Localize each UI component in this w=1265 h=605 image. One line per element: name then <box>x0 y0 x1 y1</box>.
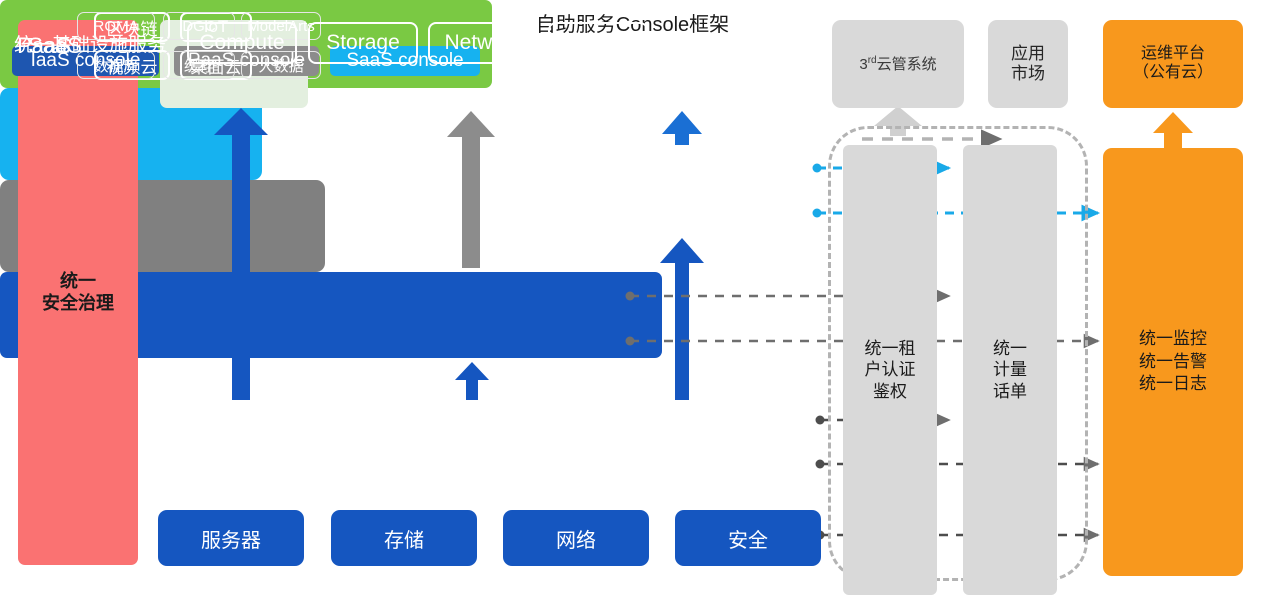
thirdparty-suffix: 云管系统 <box>877 56 937 73</box>
resource-box-network[interactable]: 网络 <box>503 510 649 566</box>
infrastructure-services-label: 统一基础设施服务 <box>14 0 166 86</box>
monitoring-label: 统一监控 统一告警 统一日志 <box>1139 328 1207 397</box>
arrow-infra-to-saas <box>660 238 704 400</box>
shared-service-unified-auth[interactable]: 统一租户认证鉴权 <box>843 145 937 595</box>
security-governance-label: 统一 安全治理 <box>42 271 114 313</box>
monitoring-panel[interactable]: 统一监控 统一告警 统一日志 <box>1103 148 1243 576</box>
security-label-line2: 安全治理 <box>42 293 114 313</box>
app-market-line1: 应用 <box>1011 44 1045 63</box>
shared-service-unified-billing[interactable]: 统一计量话单 <box>963 145 1057 595</box>
security-label-line1: 统一 <box>60 271 96 291</box>
architecture-diagram: 统一 安全治理 API网关 自助服务Console框架 IaaS console… <box>0 0 1265 605</box>
arrow-paas-to-console <box>447 111 495 268</box>
ops-platform-line1: 运维平台 <box>1141 45 1205 62</box>
resource-box-server[interactable]: 服务器 <box>158 510 304 566</box>
monitoring-line2: 统一告警 <box>1139 352 1207 371</box>
thirdparty-cloud-label: 3rd云管系统 <box>859 55 936 74</box>
app-market-box[interactable]: 应用 市场 <box>988 20 1068 108</box>
arrow-infra-to-paas <box>455 362 489 400</box>
infra-chip-compute[interactable]: Compute <box>187 22 297 64</box>
infra-chip-storage[interactable]: Storage <box>308 22 418 64</box>
arrow-to-ops-platform <box>1153 112 1193 148</box>
monitoring-line3: 统一日志 <box>1139 374 1207 393</box>
thirdparty-cloud-mgmt-box[interactable]: 3rd云管系统 <box>832 20 964 108</box>
resource-box-storage[interactable]: 存储 <box>331 510 477 566</box>
arrow-saas-to-console <box>662 111 702 145</box>
ops-platform-line2: （公有云） <box>1133 64 1213 81</box>
thirdparty-sup: rd <box>868 55 877 66</box>
security-governance-panel[interactable]: 统一 安全治理 <box>18 20 138 565</box>
resource-box-security[interactable]: 安全 <box>675 510 821 566</box>
app-market-line2: 市场 <box>1011 64 1045 83</box>
thirdparty-prefix: 3 <box>859 56 867 73</box>
ops-platform-label: 运维平台 （公有云） <box>1133 45 1213 83</box>
infra-chip-network[interactable]: Network <box>428 22 538 64</box>
ops-platform-box[interactable]: 运维平台 （公有云） <box>1103 20 1243 108</box>
app-market-label: 应用 市场 <box>1011 44 1045 84</box>
monitoring-line1: 统一监控 <box>1139 329 1207 348</box>
infra-chip-cce[interactable]: CCE <box>548 22 648 64</box>
